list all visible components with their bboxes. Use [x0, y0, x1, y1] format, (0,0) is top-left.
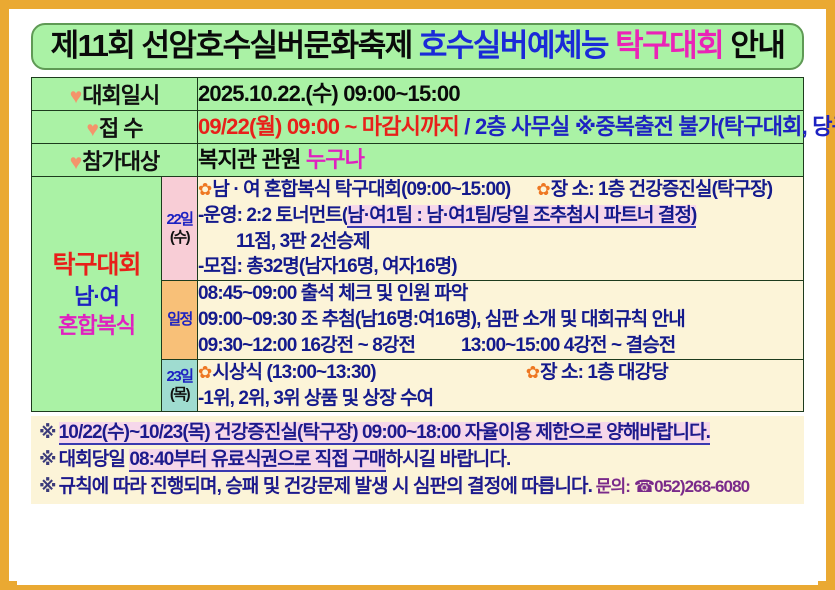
contact-label: 문의:	[592, 477, 634, 496]
content-seg: 시상식 (13:00~13:30)	[212, 362, 375, 383]
table-row-day-22: 탁구대회 남·여 혼합복식 22일 (수) ✿남 · 여 혼합복식 탁구대회(0…	[32, 177, 804, 281]
heart-icon: ♥	[86, 118, 98, 141]
day-cell-22: 22일 (수)	[162, 177, 198, 281]
content-line: 09:00~09:30 조 추첨(남16명:여16명), 심판 소개 및 대회규…	[198, 307, 803, 333]
note-2-post: 하시길 바랍니다.	[386, 449, 511, 470]
day-cell-23-bottom: (목)	[162, 386, 197, 403]
flower-icon: ✿	[536, 180, 550, 199]
table-row-date: ♥대회일시 2025.10.22.(수) 09:00~15:00	[32, 78, 804, 111]
label-target: ♥참가대상	[32, 144, 198, 177]
note-2-highlight: 08:40부터 유료식권으로 직접 구매	[129, 449, 385, 472]
phone-number: 052)268-6080	[654, 477, 749, 496]
content-line: 08:45~09:00 출석 체크 및 인원 파악	[198, 281, 803, 307]
title-part-4: 안내	[723, 28, 784, 63]
day-cell-23: 23일 (목)	[162, 359, 198, 412]
value-apply: 09/22(월) 09:00 ~ 마감시까지 / 2층 사무실 ※중복출전 불가…	[198, 111, 804, 144]
content-highlight: 남·여1팀 : 남·여1팀/당일 조추첨시 파트너 결정)	[347, 205, 696, 228]
day-cell-22-bottom: (수)	[162, 229, 197, 246]
table-row-apply: ♥접 수 09/22(월) 09:00 ~ 마감시까지 / 2층 사무실 ※중복…	[32, 111, 804, 144]
content-line: -운영: 2:2 토너먼트(남·여1팀 : 남·여1팀/당일 조추첨시 파트너 …	[198, 203, 803, 229]
day-cell-22-top: 22일	[162, 211, 197, 228]
title-banner: 제11회 선암호수실버문화축제 호수실버예체능 탁구대회 안내	[31, 23, 804, 70]
flower-icon: ✿	[526, 363, 540, 382]
info-table: ♥대회일시 2025.10.22.(수) 09:00~15:00 ♥접 수 09…	[31, 77, 804, 412]
label-date: ♥대회일시	[32, 78, 198, 111]
content-schedule: 08:45~09:00 출석 체크 및 인원 파악 09:00~09:30 조 …	[198, 281, 804, 359]
content-seg: 13:00~15:00 4강전 ~ 결승전	[461, 335, 675, 356]
target-text-1: 복지관 관원	[198, 147, 306, 172]
phone-icon: ☎	[634, 477, 654, 496]
flower-icon: ✿	[198, 363, 212, 382]
event-name-line-2: 남·여	[32, 282, 161, 311]
note-line-3: ※규칙에 따라 진행되며, 승패 및 건강문제 발생 시 심판의 결정에 따릅니…	[39, 474, 804, 501]
apply-period: 09/22(월) 09:00 ~ 마감시까지	[198, 114, 459, 139]
note-mark: ※	[39, 422, 59, 442]
note-line-2: ※대회당일 08:40부터 유료식권으로 직접 구매하시길 바랍니다.	[39, 447, 804, 474]
content-seg: 장 소: 1층 대강당	[540, 362, 668, 383]
apply-separator: /	[459, 114, 475, 139]
label-target-text: 참가대상	[82, 149, 159, 174]
event-name-line-3: 혼합복식	[32, 311, 161, 340]
content-line: -1위, 2위, 3위 상품 및 상장 수여	[198, 386, 803, 412]
poster-inner: 제11회 선암호수실버문화축제 호수실버예체능 탁구대회 안내 ♥대회일시 20…	[17, 23, 818, 585]
target-text-2: 누구나	[306, 147, 364, 172]
content-day-22: ✿남 · 여 혼합복식 탁구대회(09:00~15:00)✿장 소: 1층 건강…	[198, 177, 804, 281]
content-line: -모집: 총32명(남자16명, 여자16명)	[198, 254, 803, 280]
note-mark: ※	[39, 449, 59, 469]
title-part-3: 탁구대회	[615, 28, 723, 63]
apply-location: 2층 사무실	[475, 114, 570, 139]
content-seg: 11점, 3판 2선승제	[236, 231, 370, 252]
value-date-text: 2025.10.22.(수) 09:00~15:00	[198, 81, 460, 106]
label-date-text: 대회일시	[82, 83, 159, 108]
heart-icon: ♥	[70, 151, 82, 174]
title-part-2: 호수실버예체능	[419, 28, 615, 63]
content-seg: 09:30~12:00 16강전 ~ 8강전	[198, 335, 415, 356]
content-line: ✿남 · 여 혼합복식 탁구대회(09:00~15:00)✿장 소: 1층 건강…	[198, 177, 803, 203]
content-seg: -운영: 2:2 토너먼트(	[198, 205, 347, 226]
content-seg: 남 · 여 혼합복식 탁구대회(09:00~15:00)	[212, 179, 510, 200]
note-3-text: 규칙에 따라 진행되며, 승패 및 건강문제 발생 시 심판의 결정에 따릅니다…	[59, 476, 592, 497]
day-cell-23-top: 23일	[162, 368, 197, 385]
event-name-line-1: 탁구대회	[32, 249, 161, 282]
title-part-1: 제11회 선암호수실버문화축제	[51, 28, 419, 63]
day-cell-schedule-top: 일정	[162, 311, 197, 328]
value-target: 복지관 관원 누구나	[198, 144, 804, 177]
value-date: 2025.10.22.(수) 09:00~15:00	[198, 78, 804, 111]
content-day-23: ✿시상식 (13:00~13:30)✿장 소: 1층 대강당 -1위, 2위, …	[198, 359, 804, 412]
poster-frame: 제11회 선암호수실버문화축제 호수실버예체능 탁구대회 안내 ♥대회일시 20…	[0, 0, 835, 590]
table-row-target: ♥참가대상 복지관 관원 누구나	[32, 144, 804, 177]
note-line-1: ※10/22(수)~10/23(목) 건강증진실(탁구장) 09:00~18:0…	[39, 420, 804, 447]
event-name-cell: 탁구대회 남·여 혼합복식	[32, 177, 162, 412]
flower-icon: ✿	[198, 180, 212, 199]
content-line: 09:30~12:00 16강전 ~ 8강전13:00~15:00 4강전 ~ …	[198, 333, 803, 359]
note-2-pre: 대회당일	[59, 449, 130, 470]
content-line: 11점, 3판 2선승제	[198, 229, 803, 255]
note-mark: ※	[39, 476, 59, 496]
label-apply: ♥접 수	[32, 111, 198, 144]
content-line: ✿시상식 (13:00~13:30)✿장 소: 1층 대강당	[198, 360, 803, 386]
day-cell-schedule: 일정	[162, 281, 198, 359]
heart-icon: ♥	[70, 85, 82, 108]
label-apply-text: 접 수	[99, 116, 143, 141]
content-seg: 장 소: 1층 건강증진실(탁구장)	[551, 179, 772, 200]
footer-notes: ※10/22(수)~10/23(목) 건강증진실(탁구장) 09:00~18:0…	[31, 416, 804, 504]
note-1-text: 10/22(수)~10/23(목) 건강증진실(탁구장) 09:00~18:00…	[59, 422, 710, 445]
apply-line-2: ※중복출전 불가(탁구대회, 당구대회, 바둑대회 중 1인 1종목)	[575, 114, 835, 139]
apply-line-1: 09/22(월) 09:00 ~ 마감시까지 / 2층 사무실	[198, 114, 569, 139]
